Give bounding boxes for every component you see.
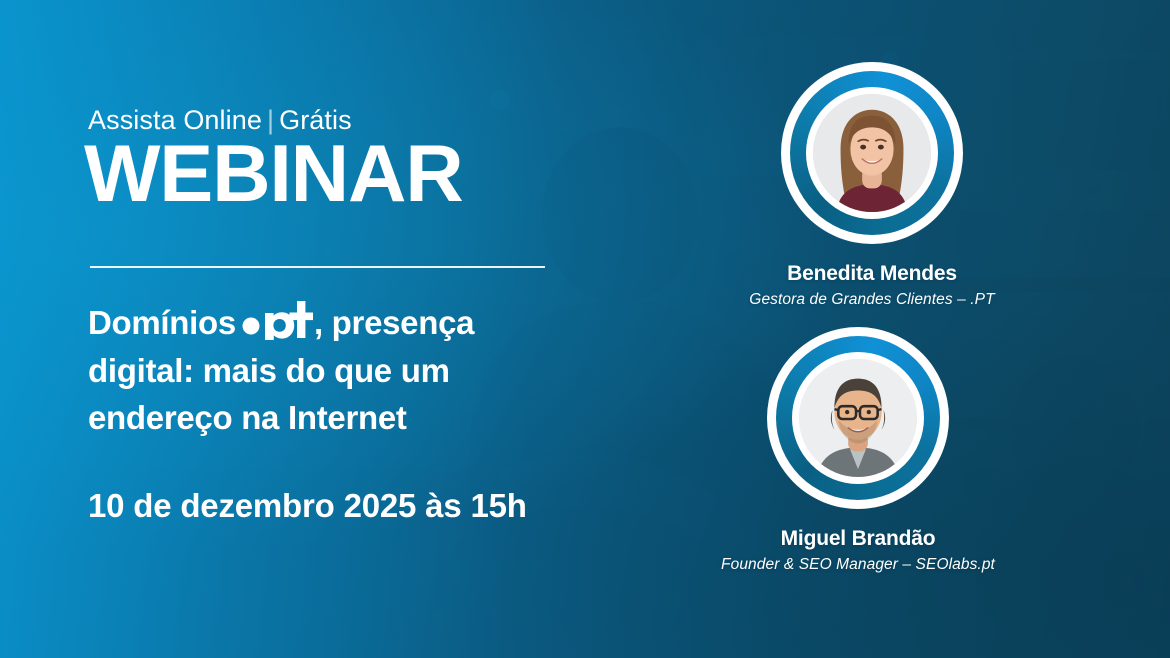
speaker-role: Gestora de Grandes Clientes – .PT xyxy=(662,291,1082,309)
headline-text-before: Domínios xyxy=(88,304,236,341)
speaker-card-miguel-brandao: Miguel Brandão Founder & SEO Manager – S… xyxy=(648,327,1068,574)
speaker-card-benedita-mendes: Benedita Mendes Gestora de Grandes Clien… xyxy=(662,62,1082,309)
avatar-photo-miguel xyxy=(799,359,917,477)
webinar-datetime: 10 de dezembro 2025 às 15h xyxy=(88,487,527,525)
poster-text-column: Assista Online|Grátis WEBINAR Domínios ,… xyxy=(88,0,648,658)
avatar xyxy=(767,327,949,509)
avatar-photo-benedita xyxy=(813,94,931,212)
speaker-name: Benedita Mendes xyxy=(662,262,1082,286)
speaker-name: Miguel Brandão xyxy=(648,527,1068,551)
dot-pt-logo-icon xyxy=(241,300,313,340)
webinar-wordmark: WEBINAR xyxy=(84,134,463,215)
webinar-headline: Domínios , presença digital: mais do que… xyxy=(88,299,588,442)
section-divider xyxy=(90,266,545,268)
webinar-poster: Assista Online|Grátis WEBINAR Domínios ,… xyxy=(0,0,1170,658)
speaker-role: Founder & SEO Manager – SEOlabs.pt xyxy=(648,556,1068,574)
avatar xyxy=(781,62,963,244)
